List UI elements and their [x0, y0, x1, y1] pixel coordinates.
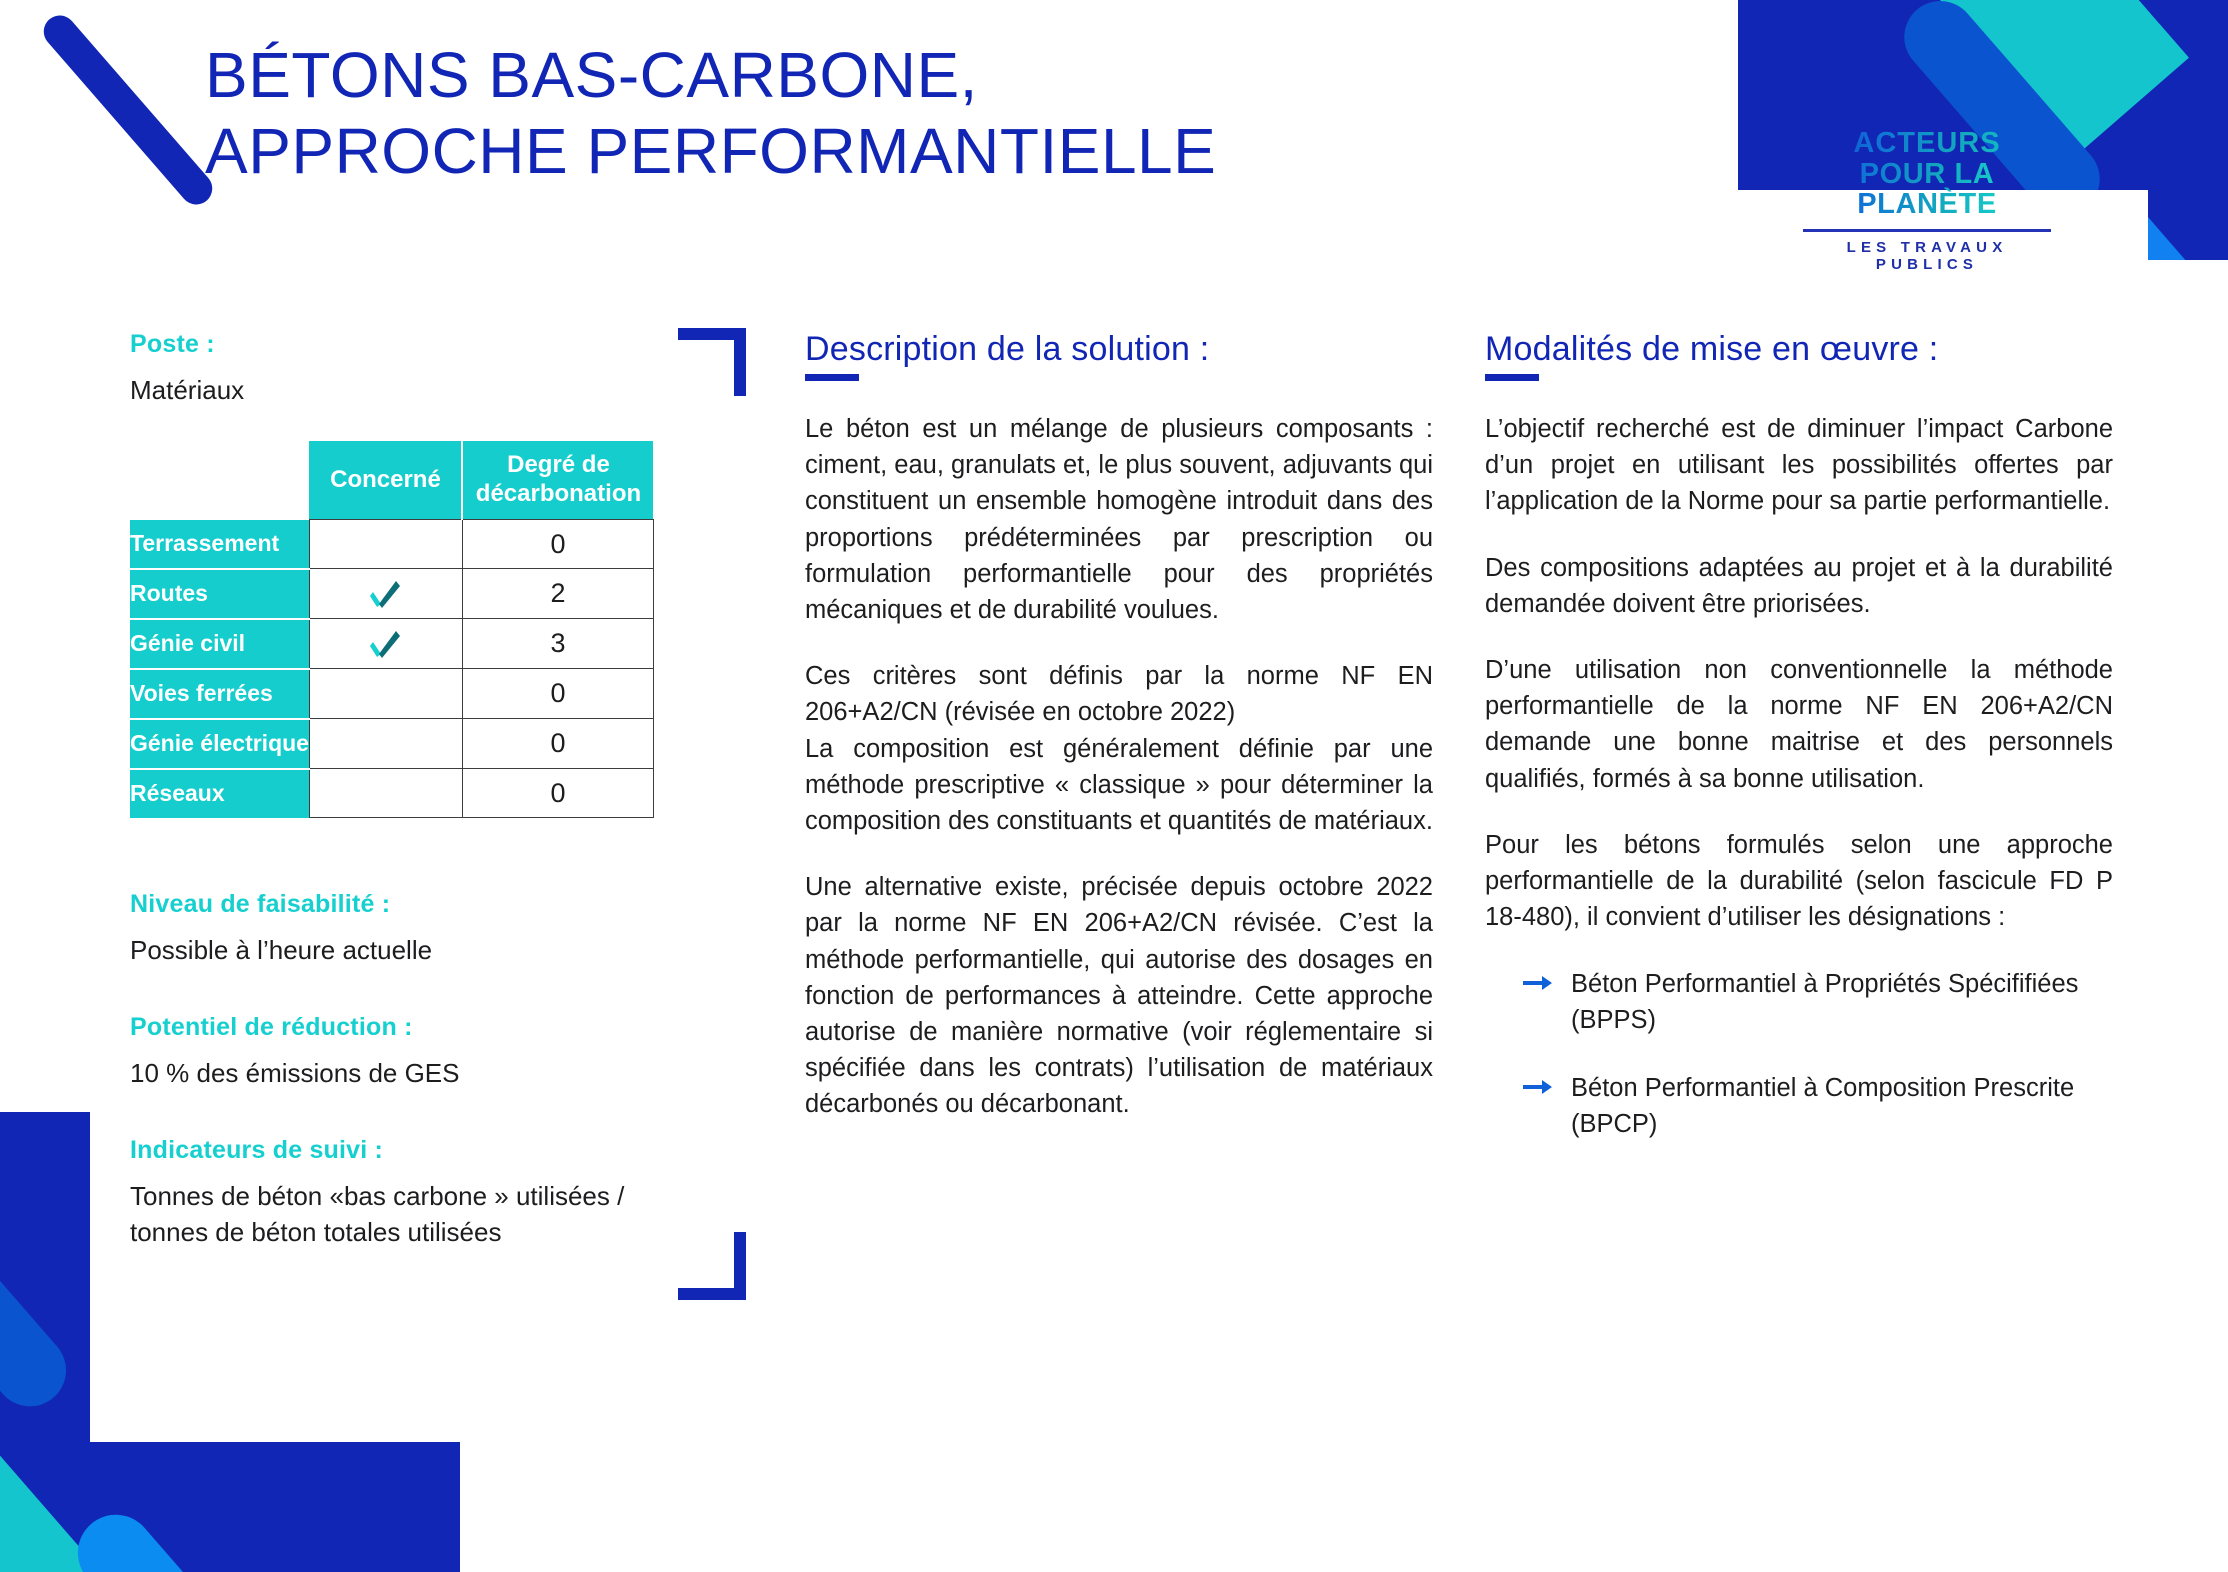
indicateurs-value: Tonnes de béton «bas carbone » utilisées…	[130, 1179, 730, 1251]
designations-list: Béton Performantiel à Propriétés Spécifi…	[1485, 967, 2113, 1142]
table-header-concerne: Concerné	[309, 441, 462, 520]
table-body: Terrassement 0 Routes 2 Génie civil	[130, 520, 653, 818]
table-cell-concerne	[309, 520, 462, 569]
decarbonation-table: Concerné Degré de décarbonation Terrasse…	[130, 441, 654, 818]
right-paragraph-3: D’une utilisation non conventionnelle la…	[1485, 652, 2113, 797]
corner-bracket-top-right-icon	[678, 328, 746, 396]
potentiel-label: Potentiel de réduction :	[130, 1013, 730, 1042]
left-column: Poste : Matériaux	[130, 330, 730, 409]
logo-line-les-travaux-publics: LES TRAVAUX PUBLICS	[1797, 239, 2057, 273]
middle-paragraph-4: Une alternative existe, précisée depuis …	[805, 869, 1433, 1122]
right-paragraph-1: L’objectif recherché est de diminuer l’i…	[1485, 411, 2113, 520]
page-title: BÉTONS BAS-CARBONE, APPROCHE PERFORMANTI…	[205, 38, 1565, 189]
right-column: Modalités de mise en œuvre : L’objectif …	[1485, 330, 2113, 1174]
table-row: Réseaux 0	[130, 769, 653, 818]
table-row: Génie civil 3	[130, 619, 653, 669]
poste-value: Matériaux	[130, 373, 730, 409]
list-item: Béton Performantiel à Composition Prescr…	[1523, 1071, 2113, 1142]
table-cell-concerne	[309, 769, 462, 818]
list-item-label: Béton Performantiel à Propriétés Spécifi…	[1571, 967, 2113, 1038]
table-cell-concerne	[309, 669, 462, 719]
middle-section-title: Description de la solution :	[805, 330, 1433, 369]
table-row-label: Voies ferrées	[130, 669, 309, 719]
arrow-right-icon	[1523, 1077, 1553, 1102]
poste-label: Poste :	[130, 330, 730, 359]
faisabilite-value: Possible à l’heure actuelle	[130, 933, 730, 969]
table-row-label: Terrassement	[130, 520, 309, 569]
logo-divider	[1803, 229, 2051, 232]
right-paragraph-4: Pour les bétons formulés selon une appro…	[1485, 827, 2113, 936]
table-row: Routes 2	[130, 569, 653, 619]
table-cell-degre: 2	[462, 569, 653, 619]
table-row-label: Génie électrique	[130, 719, 309, 769]
table-row-label: Routes	[130, 569, 309, 619]
table-header-degre: Degré de décarbonation	[462, 441, 653, 520]
potentiel-value: 10 % des émissions de GES	[130, 1056, 730, 1092]
table-header-row: Concerné Degré de décarbonation	[130, 441, 653, 520]
arrow-right-icon	[1523, 973, 1553, 998]
table-cell-degre: 0	[462, 669, 653, 719]
table-cell-degre: 3	[462, 619, 653, 669]
table-cell-degre: 0	[462, 719, 653, 769]
table-row: Voies ferrées 0	[130, 669, 653, 719]
table-row-label: Génie civil	[130, 619, 309, 669]
check-icon	[369, 577, 403, 611]
right-paragraph-2: Des compositions adaptées au projet et à…	[1485, 550, 2113, 622]
table-header-blank	[130, 441, 309, 520]
logo-acteurs-pour-la-planete: ACTEURS POUR LA PLANÈTE LES TRAVAUX PUBL…	[1797, 128, 2057, 273]
table-cell-concerne	[309, 619, 462, 669]
middle-paragraph-1: Le béton est un mélange de plusieurs com…	[805, 411, 1433, 628]
right-section-title: Modalités de mise en œuvre :	[1485, 330, 2113, 369]
table-row: Génie électrique 0	[130, 719, 653, 769]
middle-column: Description de la solution : Le béton es…	[805, 330, 1433, 1123]
table-row: Terrassement 0	[130, 520, 653, 569]
poster-page: BÉTONS BAS-CARBONE, APPROCHE PERFORMANTI…	[0, 0, 2228, 1572]
table-cell-concerne	[309, 719, 462, 769]
table-cell-concerne	[309, 569, 462, 619]
check-icon	[369, 627, 403, 661]
table-cell-degre: 0	[462, 769, 653, 818]
list-item-label: Béton Performantiel à Composition Prescr…	[1571, 1071, 2113, 1142]
middle-title-underline	[805, 374, 859, 381]
diagonal-slash-decoration	[37, 9, 219, 211]
table-cell-degre: 0	[462, 520, 653, 569]
middle-paragraph-3: La composition est généralement définie …	[805, 731, 1433, 840]
left-column-lower: Niveau de faisabilité : Possible à l’heu…	[130, 890, 730, 1251]
logo-line-acteurs: ACTEURS	[1797, 128, 2057, 159]
indicateurs-label: Indicateurs de suivi :	[130, 1136, 730, 1165]
logo-line-pour-la-planete: POUR LA PLANÈTE	[1797, 159, 2057, 220]
list-item: Béton Performantiel à Propriétés Spécifi…	[1523, 967, 2113, 1038]
faisabilite-label: Niveau de faisabilité :	[130, 890, 730, 919]
middle-paragraph-2: Ces critères sont définis par la norme N…	[805, 658, 1433, 730]
right-title-underline	[1485, 374, 1539, 381]
table-row-label: Réseaux	[130, 769, 309, 818]
